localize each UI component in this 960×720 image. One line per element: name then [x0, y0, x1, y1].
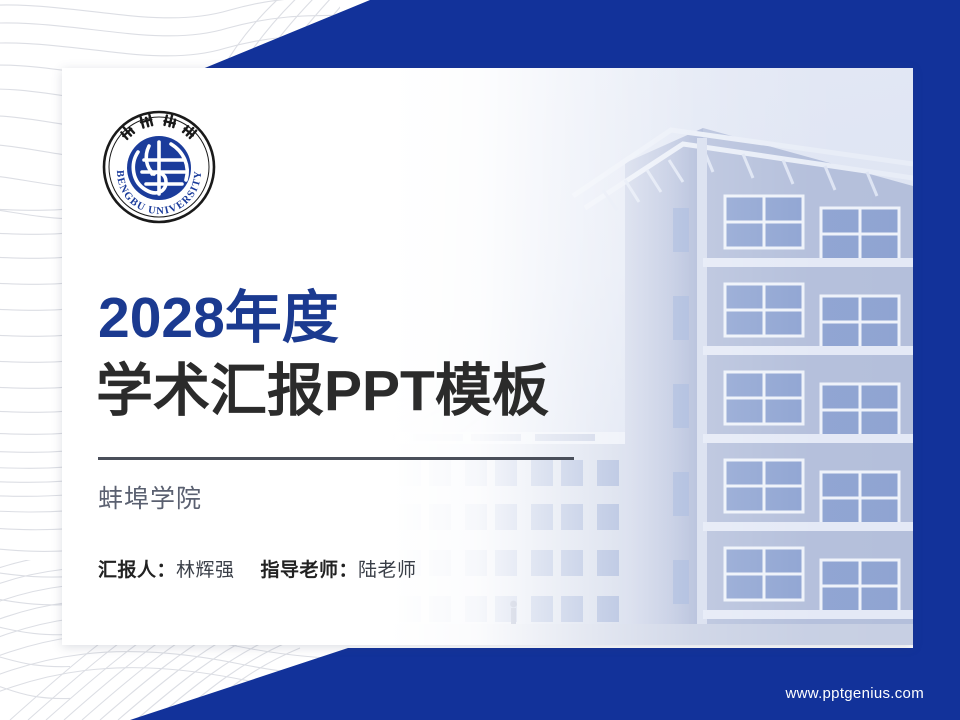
university-seal-logo: BENGBU UNIVERSITY: [100, 108, 218, 226]
cover-card: BENGBU UNIVERSITY 2028年度 学术汇报PPT模板 蚌埠学院 …: [62, 68, 913, 645]
footer-website-url[interactable]: www.pptgenius.com: [786, 685, 925, 702]
advisor-label: 指导老师：: [261, 560, 359, 581]
presenter-name: 林辉强: [176, 560, 235, 581]
page-title: 学术汇报PPT模板: [96, 363, 549, 420]
title-year: 2028年度: [98, 290, 339, 347]
organization-name: 蚌埠学院: [98, 484, 202, 514]
title-divider: [98, 457, 574, 460]
advisor-name: 陆老师: [358, 560, 417, 581]
cover-card-content: BENGBU UNIVERSITY 2028年度 学术汇报PPT模板 蚌埠学院 …: [62, 68, 913, 645]
presentation-cover-slide: BENGBU UNIVERSITY 2028年度 学术汇报PPT模板 蚌埠学院 …: [0, 0, 960, 720]
presenter-label: 汇报人：: [98, 560, 176, 581]
presenter-info: 汇报人：林辉强指导老师：陆老师: [98, 555, 417, 582]
